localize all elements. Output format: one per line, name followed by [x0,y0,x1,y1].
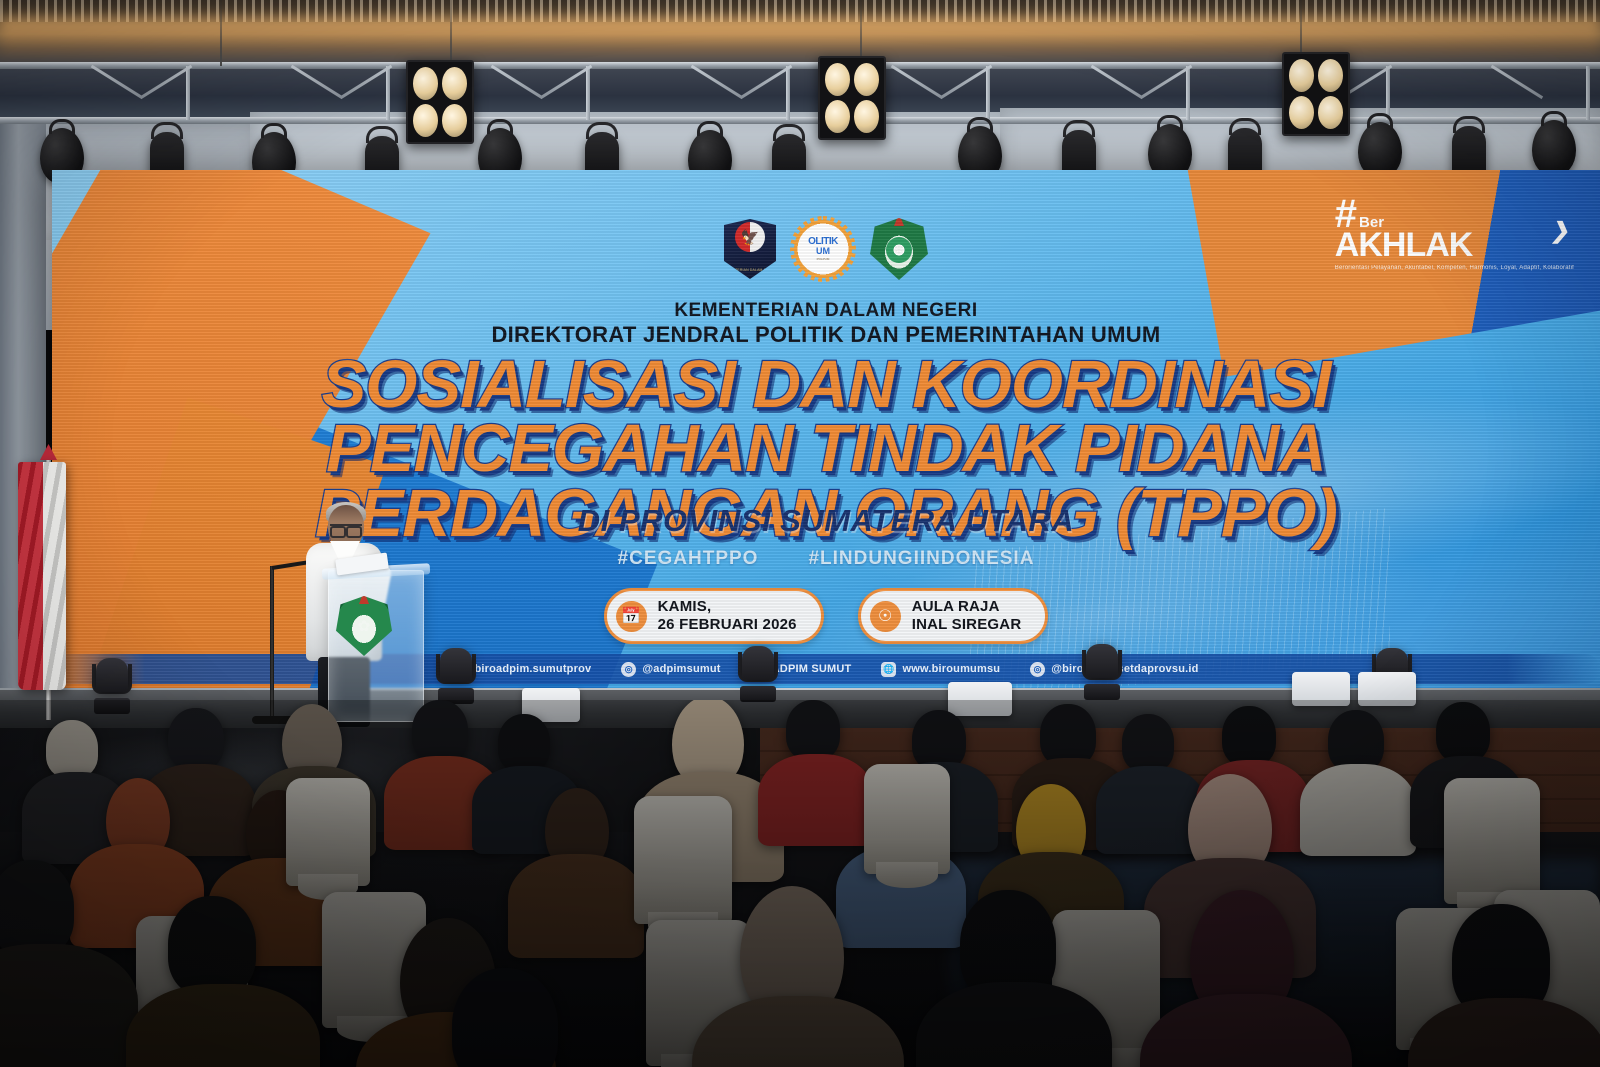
truss-vertical [586,66,590,120]
truss-vertical [986,66,990,120]
seated-audience [0,700,1600,1067]
truss-brace [1491,65,1543,99]
truss-brace [1140,65,1192,99]
truss-vertical [1586,66,1590,120]
moving-head-light [1082,644,1122,700]
social-label: @biroumumsetdaprovsu.id [1051,663,1198,675]
truss-top-chord [0,62,1600,69]
truss-vertical [1186,66,1190,120]
audience-shoulders [0,944,138,1067]
blinder-light-panel [406,60,474,144]
audience-head-hijab [672,700,744,780]
cove-light-glow [0,18,1600,60]
polpum-text: POLPUM [817,258,830,261]
led-stage-screen: # Ber AKHLAK Berorientasi Pelayanan, Aku… [52,170,1600,690]
social-item-adpimsumut: ◎ @adpimsumut [621,662,720,677]
conference-hall-photo: # Ber AKHLAK Berorientasi Pelayanan, Aku… [0,0,1600,1067]
venue-badge: ☉ AULA RAJA INAL SIREGAR [858,588,1049,644]
truss-brace [491,65,543,99]
microphone-stand [270,566,274,722]
audience-head [168,708,224,770]
banquet-chair [864,764,950,874]
truss-brace [291,65,343,99]
audience-shoulders [508,854,644,958]
banquet-chair [1444,778,1540,904]
date-badge: 📅 KAMIS, 26 FEBRUARI 2026 [604,588,824,644]
blinder-light-panel [1282,52,1350,136]
audience-head [1040,704,1096,766]
truss-vertical [1386,66,1390,120]
audience-head [912,710,966,770]
date-line-1: KAMIS, [658,598,797,616]
venue-line-1: AULA RAJA [912,598,1022,616]
truss-vertical [786,66,790,120]
truss-brace [740,65,792,99]
audience-head [786,700,840,760]
truss-bottom-chord [0,117,1600,124]
emblem-star-icon: ❄ [894,242,905,258]
truss-brace [540,65,592,99]
pum-text: UM [816,247,830,256]
globe-icon: 🌐 [881,662,896,677]
truss-brace [891,65,943,99]
instagram-icon: ◎ [621,662,636,677]
date-line-2: 26 FEBRUARI 2026 [658,616,797,634]
audience-shoulders [1140,994,1352,1067]
title-line-1: SOSIALISASI DAN KOORDINASI [52,353,1600,417]
audience-head-hijab [282,704,342,774]
indonesian-flag [18,462,66,690]
truss-brace [940,65,992,99]
garuda-icon: 🦅 [741,229,760,247]
location-pin-icon: ☉ [870,601,901,632]
truss-hoist-cable [450,0,452,66]
audience-shoulders [758,754,874,846]
social-item-website: 🌐 www.biroumumsu [881,662,1000,677]
audience-head-hijab [740,886,844,1010]
audience-head [168,896,256,996]
eyeglasses-icon [330,524,362,532]
social-label: www.biroumumsu [902,663,1000,675]
truss-brace [91,65,143,99]
truss-vertical [386,66,390,120]
truss-brace [691,65,743,99]
audience-head [1222,706,1276,766]
audience-head [1436,702,1490,762]
title-line-2: PENCEGAHAN TINDAK PIDANA [52,417,1600,481]
blinder-light-panel [818,56,886,140]
audience-head [498,714,550,772]
logo-row: 🦅 KEMENTERIAN DALAM NEGERI OLITIK UM POL… [52,218,1600,280]
truss-brace [140,65,192,99]
banquet-chair [286,778,370,886]
audience-head-hijab [545,788,609,864]
info-badge-row: 📅 KAMIS, 26 FEBRUARI 2026 ☉ AULA RAJA IN… [52,588,1600,644]
audience-shoulders [1300,764,1416,856]
kemendagri-logo: 🦅 KEMENTERIAN DALAM NEGERI [724,219,776,279]
lighting-truss [0,62,1600,124]
calendar-icon: 📅 [616,601,647,632]
truss-brace [340,65,392,99]
ministry-line-2: DIREKTORAT JENDRAL POLITIK DAN PEMERINTA… [52,322,1600,347]
social-label: ADPIM SUMUT [772,663,852,675]
venue-text: AULA RAJA INAL SIREGAR [912,598,1022,634]
hashtag-lindungiindonesia: #LINDUNGIINDONESIA [808,548,1034,570]
date-text: KAMIS, 26 FEBRUARI 2026 [658,598,797,634]
venue-line-2: INAL SIREGAR [912,616,1022,634]
ministry-line-1: KEMENTERIAN DALAM NEGERI [52,300,1600,322]
audience-head [46,720,98,778]
social-label: @adpimsumut [642,663,720,675]
truss-hoist-cable [220,0,222,66]
audience-head [1122,714,1174,772]
instagram-icon: ◎ [1030,662,1045,677]
politik-pum-logo: OLITIK UM POLPUM [794,220,852,278]
ministry-heading: KEMENTERIAN DALAM NEGERI DIREKTORAT JEND… [52,300,1600,347]
event-subtitle: DI PROVINSI SUMATERA UTARA [52,503,1600,539]
sumatera-utara-logo: ❄ [870,218,928,280]
truss-brace [1091,65,1143,99]
par-can-light [1532,120,1576,176]
audience-head [0,860,74,956]
truss-vertical [186,66,190,120]
banquet-chair [634,796,732,924]
social-label: biroadpim.sumutprov [474,663,591,675]
emblem-spike [894,213,904,226]
audience-head [412,700,468,762]
moving-head-light [738,646,778,702]
moving-head-light [436,648,476,704]
kemendagri-ribbon: KEMENTERIAN DALAM NEGERI [722,268,778,272]
hashtag-cegahtppo: #CEGAHTPPO [618,548,759,570]
audience-head [452,968,558,1067]
audience-head [1328,710,1384,772]
